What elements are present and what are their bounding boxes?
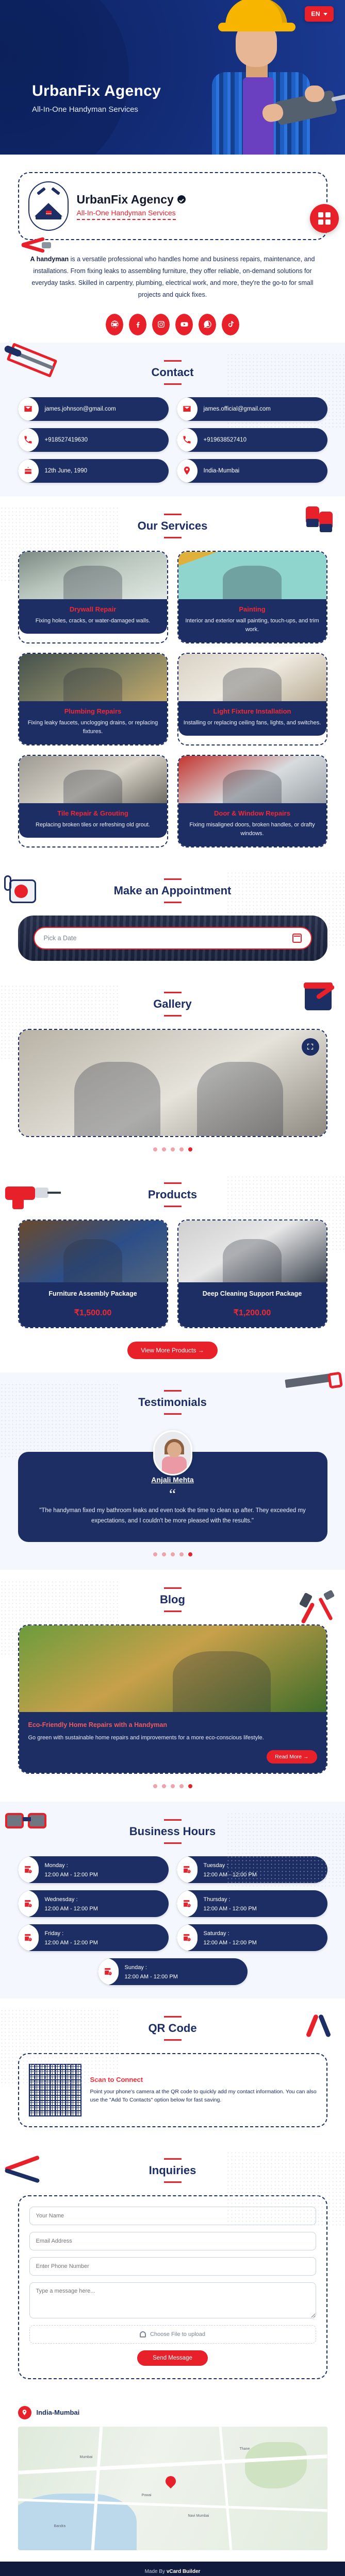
- section-title-appointment: Make an Appointment: [114, 884, 232, 897]
- contact-phone-2[interactable]: +919638527410: [177, 428, 327, 452]
- hero-text-block: UrbanFix Agency All-In-One Handyman Serv…: [32, 82, 161, 114]
- map-place-label: Mumbai: [80, 2455, 93, 2459]
- testimonial-pagination[interactable]: [0, 1552, 345, 1556]
- title-rule-top: [164, 2158, 182, 2160]
- calendar-clock-icon: [18, 1856, 39, 1883]
- title-rule-top: [164, 1587, 182, 1589]
- location-icon: [18, 2406, 31, 2419]
- product-card[interactable]: Deep Cleaning Support Package ₹1,200.00: [177, 1219, 327, 1329]
- handsaw-icon: [285, 1372, 342, 1393]
- pagination-dot[interactable]: [179, 1784, 184, 1788]
- service-description: Fixing leaky faucets, unclogging drains,…: [24, 719, 162, 736]
- contact-value: 12th June, 1990: [45, 468, 88, 474]
- file-upload-button[interactable]: Choose File to upload: [29, 2325, 316, 2344]
- service-image: [19, 654, 167, 701]
- service-card[interactable]: Drywall Repair Fixing holes, cracks, or …: [18, 551, 168, 643]
- brand-name: UrbanFix Agency: [77, 193, 174, 207]
- pagination-dot[interactable]: [153, 1552, 157, 1556]
- calendar-icon[interactable]: [292, 934, 302, 943]
- business-hours-time: 12:00 AM - 12:00 PM: [45, 1906, 98, 1912]
- gallery-section: Gallery: [0, 974, 345, 1165]
- map-marker[interactable]: [166, 2476, 176, 2489]
- phone-icon: [18, 428, 39, 452]
- contact-grid: james.johnson@gmail.com james.official@g…: [18, 397, 327, 483]
- hero-title: UrbanFix Agency: [32, 82, 161, 100]
- pagination-dot[interactable]: [171, 1147, 175, 1151]
- business-hours-day: Thursday :: [204, 1896, 231, 1903]
- verified-badge-icon: [177, 195, 186, 204]
- logo-icon: [28, 181, 69, 231]
- language-label: EN: [311, 10, 320, 18]
- pagination-dot[interactable]: [153, 1784, 157, 1788]
- blog-post-title: Eco-Friendly Home Repairs with a Handyma…: [28, 1720, 317, 1730]
- paperclip-icon: [140, 2331, 146, 2337]
- business-hours-day: Monday :: [45, 1862, 68, 1869]
- product-image: [178, 1221, 326, 1282]
- view-more-products-button[interactable]: View More Products →: [127, 1342, 218, 1359]
- blog-image: [19, 1625, 326, 1712]
- contact-value: +919638527410: [204, 437, 247, 443]
- services-section: Our Services Drywall Repair Fixing holes…: [0, 496, 345, 861]
- service-description: Replacing broken tiles or refreshing old…: [24, 821, 162, 829]
- contact-location[interactable]: India-Mumbai: [177, 459, 327, 483]
- contact-value: james.johnson@gmail.com: [45, 406, 116, 412]
- blog-card[interactable]: Eco-Friendly Home Repairs with a Handyma…: [18, 1624, 327, 1774]
- business-hours-time: 12:00 AM - 12:00 PM: [204, 1940, 257, 1946]
- service-name: Drywall Repair: [24, 605, 162, 613]
- map-green-area: [245, 2442, 307, 2488]
- footer-brand[interactable]: vCard Builder: [167, 2569, 201, 2574]
- service-name: Plumbing Repairs: [24, 707, 162, 715]
- facebook-icon[interactable]: [129, 314, 146, 335]
- read-more-button[interactable]: Read More →: [267, 1750, 317, 1764]
- hero-worker-illustration: [185, 0, 340, 155]
- inquiries-section: Inquiries Choose File to upload Send Mes…: [0, 2141, 345, 2393]
- service-name: Light Fixture Installation: [184, 707, 321, 715]
- business-hours-day: Saturday :: [204, 1930, 229, 1937]
- service-description: Interior and exterior wall painting, tou…: [184, 617, 321, 634]
- service-card[interactable]: Light Fixture Installation Installing or…: [177, 653, 327, 745]
- footer-text: Made By: [145, 2569, 167, 2574]
- chevron-down-icon: [323, 13, 327, 15]
- qr-heading: Scan to Connect: [90, 2076, 317, 2083]
- title-rule-top: [164, 1182, 182, 1184]
- title-rule-top: [164, 2016, 182, 2018]
- calendar-clock-icon: [177, 1924, 198, 1951]
- about-description: A handyman is a versatile professional w…: [28, 253, 317, 301]
- business-hours-day: Tuesday :: [204, 1862, 228, 1869]
- calendar-clock-icon: [177, 1856, 198, 1883]
- business-hours-section: Business Hours Monday : 12:00 AM - 12:00…: [0, 1802, 345, 1998]
- contact-value: +918527419630: [45, 437, 88, 443]
- services-grid: Drywall Repair Fixing holes, cracks, or …: [18, 551, 327, 848]
- business-hours-time: 12:00 AM - 12:00 PM: [45, 1872, 98, 1878]
- footer: Made By vCard Builder: [0, 2562, 345, 2576]
- map-embed[interactable]: Mumbai Navi Mumbai Thane Powai Bandra: [18, 2427, 327, 2550]
- email-icon: [177, 397, 198, 421]
- appointment-banner: Pick a Date: [18, 916, 327, 961]
- pagination-dot-active[interactable]: [188, 1784, 192, 1788]
- pagination-dot[interactable]: [153, 1147, 157, 1151]
- business-hours-row: Friday : 12:00 AM - 12:00 PM: [18, 1924, 169, 1951]
- blog-pagination[interactable]: [0, 1784, 345, 1788]
- date-placeholder: Pick a Date: [44, 935, 77, 942]
- product-price: ₹1,200.00: [184, 1308, 321, 1318]
- calendar-clock-icon: [18, 1890, 39, 1917]
- language-selector[interactable]: EN: [305, 6, 334, 22]
- title-rule-bottom: [164, 2039, 182, 2041]
- instagram-icon[interactable]: [152, 314, 170, 335]
- section-title-qr: QR Code: [148, 2022, 196, 2035]
- service-name: Tile Repair & Grouting: [24, 809, 162, 817]
- website-icon[interactable]: [106, 314, 123, 335]
- product-image: [19, 1221, 167, 1282]
- product-card[interactable]: Furniture Assembly Package ₹1,500.00: [18, 1219, 168, 1329]
- title-rule-top: [164, 1390, 182, 1392]
- map-place-label: Thane: [240, 2447, 250, 2451]
- hero-banner: EN UrbanFix Agency All-In-One Handyman S…: [0, 0, 345, 155]
- service-image: [19, 552, 167, 599]
- service-card[interactable]: Door & Window Repairs Fixing misaligned …: [177, 755, 327, 848]
- pagination-dot-active[interactable]: [188, 1147, 192, 1151]
- phone-icon: [177, 428, 198, 452]
- title-rule-bottom: [164, 1611, 182, 1612]
- about-section: UrbanFix Agency All-In-One Handyman Serv…: [0, 155, 345, 343]
- email-field[interactable]: [29, 2232, 316, 2250]
- business-hours-day: Wednesday :: [45, 1896, 78, 1903]
- contact-email-2[interactable]: james.official@gmail.com: [177, 397, 327, 421]
- business-hours-time: 12:00 AM - 12:00 PM: [204, 1906, 257, 1912]
- phone-field[interactable]: [29, 2257, 316, 2276]
- section-title-services: Our Services: [138, 519, 208, 533]
- calendar-clock-icon: [98, 1958, 119, 1985]
- send-message-button[interactable]: Send Message: [137, 2350, 208, 2366]
- service-image: [178, 552, 326, 599]
- section-title-inquiries: Inquiries: [149, 2164, 196, 2177]
- section-title-products: Products: [148, 1188, 197, 1201]
- service-card[interactable]: Painting Interior and exterior wall pain…: [177, 551, 327, 643]
- testimonial-text: "The handyman fixed my bathroom leaks an…: [31, 1505, 314, 1526]
- cake-icon: [18, 459, 39, 483]
- about-lead: A handyman: [30, 256, 69, 263]
- map-header: India-Mumbai: [18, 2406, 327, 2419]
- vcard-page: EN UrbanFix Agency All-In-One Handyman S…: [0, 0, 345, 2576]
- gallery-slide[interactable]: [18, 1029, 327, 1137]
- qr-section: QR Code Scan to Connect Point your phone…: [0, 1998, 345, 2141]
- blog-post-description: Go green with sustainable home repairs a…: [28, 1734, 317, 1743]
- pagination-dot[interactable]: [171, 1552, 175, 1556]
- title-rule-top: [164, 992, 182, 993]
- contact-value: India-Mumbai: [204, 468, 240, 474]
- title-rule-top: [164, 514, 182, 515]
- title-rule-bottom: [164, 2181, 182, 2183]
- business-hours-row: Saturday : 12:00 AM - 12:00 PM: [177, 1924, 327, 1951]
- pagination-dot[interactable]: [162, 1552, 166, 1556]
- gallery-pagination[interactable]: [0, 1147, 345, 1151]
- contact-value: james.official@gmail.com: [204, 406, 271, 412]
- brand-name-row: UrbanFix Agency: [77, 193, 186, 207]
- service-description: Installing or replacing ceiling fans, li…: [184, 719, 321, 727]
- avatar: [153, 1430, 192, 1476]
- appointment-section: Make an Appointment Pick a Date: [0, 861, 345, 974]
- title-rule-top: [164, 1819, 182, 1821]
- map-place-label: Navi Mumbai: [188, 2514, 209, 2518]
- title-rule-top: [164, 360, 182, 362]
- location-icon: [177, 459, 198, 483]
- about-body: is a versatile professional who handles …: [31, 256, 315, 298]
- section-title-contact: Contact: [152, 366, 194, 379]
- pagination-dot[interactable]: [162, 1784, 166, 1788]
- pliers-icon: [21, 239, 52, 252]
- title-rule-bottom: [164, 383, 182, 385]
- expand-icon[interactable]: [302, 1038, 319, 1056]
- service-image: [19, 756, 167, 803]
- service-description: Fixing misaligned doors, broken handles,…: [184, 821, 321, 838]
- product-name: Furniture Assembly Package: [24, 1290, 162, 1299]
- service-image: [178, 756, 326, 803]
- pagination-dot-active[interactable]: [188, 1552, 192, 1556]
- product-price: ₹1,500.00: [24, 1308, 162, 1318]
- business-hours-time: 12:00 AM - 12:00 PM: [125, 1974, 178, 1980]
- map-place-label: Powai: [142, 2494, 152, 2497]
- service-card[interactable]: Tile Repair & Grouting Replacing broken …: [18, 755, 168, 848]
- business-hours-row: Monday : 12:00 AM - 12:00 PM: [18, 1856, 169, 1883]
- youtube-icon[interactable]: [175, 314, 193, 335]
- title-rule-bottom: [164, 1206, 182, 1207]
- service-name: Painting: [184, 605, 321, 613]
- section-title-business-hours: Business Hours: [129, 1825, 216, 1838]
- contact-phone-1[interactable]: +918527419630: [18, 428, 169, 452]
- email-icon: [18, 397, 39, 421]
- title-rule-bottom: [164, 537, 182, 538]
- contact-birthday[interactable]: 12th June, 1990: [18, 459, 169, 483]
- service-image: [178, 654, 326, 701]
- business-hours-row: Wednesday : 12:00 AM - 12:00 PM: [18, 1890, 169, 1917]
- tiktok-icon[interactable]: [222, 314, 239, 335]
- service-card[interactable]: Plumbing Repairs Fixing leaky faucets, u…: [18, 653, 168, 745]
- pagination-dot[interactable]: [179, 1552, 184, 1556]
- calendar-clock-icon: [177, 1890, 198, 1917]
- testimonial-author: Anjali Mehta: [31, 1476, 314, 1484]
- products-section: Products Furniture Assembly Package ₹1,5…: [0, 1165, 345, 1373]
- message-field[interactable]: [29, 2282, 316, 2318]
- blog-section: Blog Eco-Friendly Home Repairs with a Ha…: [0, 1570, 345, 1802]
- business-hours-day: Sunday :: [125, 1964, 147, 1971]
- service-description: Fixing holes, cracks, or water-damaged w…: [24, 617, 162, 625]
- title-rule-top: [164, 878, 182, 880]
- qr-description: Point your phone's camera at the QR code…: [90, 2088, 317, 2105]
- date-picker-input[interactable]: Pick a Date: [34, 927, 312, 950]
- title-rule-bottom: [164, 1413, 182, 1415]
- products-grid: Furniture Assembly Package ₹1,500.00 Dee…: [18, 1219, 327, 1329]
- quote-icon: “: [31, 1490, 314, 1499]
- qr-icon: [318, 212, 331, 225]
- contact-section: Contact james.johnson@gmail.com james.of…: [0, 343, 345, 496]
- hero-wave-shape: [0, 0, 129, 155]
- file-upload-label: Choose File to upload: [150, 2331, 205, 2337]
- calendar-clock-icon: [18, 1924, 39, 1951]
- hero-subtitle: All-In-One Handyman Services: [32, 105, 161, 114]
- social-links: [18, 314, 327, 335]
- testimonials-section: Testimonials Anjali Mehta “ "The handyma…: [0, 1372, 345, 1569]
- title-rule-bottom: [164, 902, 182, 903]
- hammer-icon: [299, 1590, 339, 1623]
- brand-card: UrbanFix Agency All-In-One Handyman Serv…: [18, 172, 327, 240]
- pagination-dot[interactable]: [179, 1147, 184, 1151]
- business-hours-day: Friday :: [45, 1930, 64, 1937]
- business-hours-row-sunday: Sunday : 12:00 AM - 12:00 PM: [98, 1958, 248, 1985]
- whatsapp-icon[interactable]: [199, 314, 216, 335]
- map-place-label: Bandra: [54, 2524, 66, 2528]
- pagination-dot[interactable]: [162, 1147, 166, 1151]
- map-section: India-Mumbai Mumbai Navi Mumbai Thane Po…: [0, 2393, 345, 2550]
- title-rule-bottom: [164, 1842, 182, 1844]
- map-location-label: India-Mumbai: [37, 2409, 80, 2416]
- business-hours-row: Thursday : 12:00 AM - 12:00 PM: [177, 1890, 327, 1917]
- service-name: Door & Window Repairs: [184, 809, 321, 817]
- product-name: Deep Cleaning Support Package: [184, 1290, 321, 1299]
- section-title-testimonials: Testimonials: [138, 1396, 207, 1409]
- testimonial-card-wrap: Anjali Mehta “ "The handyman fixed my ba…: [18, 1430, 327, 1541]
- business-hours-time: 12:00 AM - 12:00 PM: [45, 1940, 98, 1946]
- section-title-blog: Blog: [160, 1593, 185, 1606]
- title-rule-bottom: [164, 1015, 182, 1016]
- contact-email-1[interactable]: james.johnson@gmail.com: [18, 397, 169, 421]
- pagination-dot[interactable]: [171, 1784, 175, 1788]
- brand-tagline: All-In-One Handyman Services: [77, 209, 176, 220]
- qr-shortcut-button[interactable]: [310, 204, 339, 233]
- section-title-gallery: Gallery: [153, 997, 192, 1011]
